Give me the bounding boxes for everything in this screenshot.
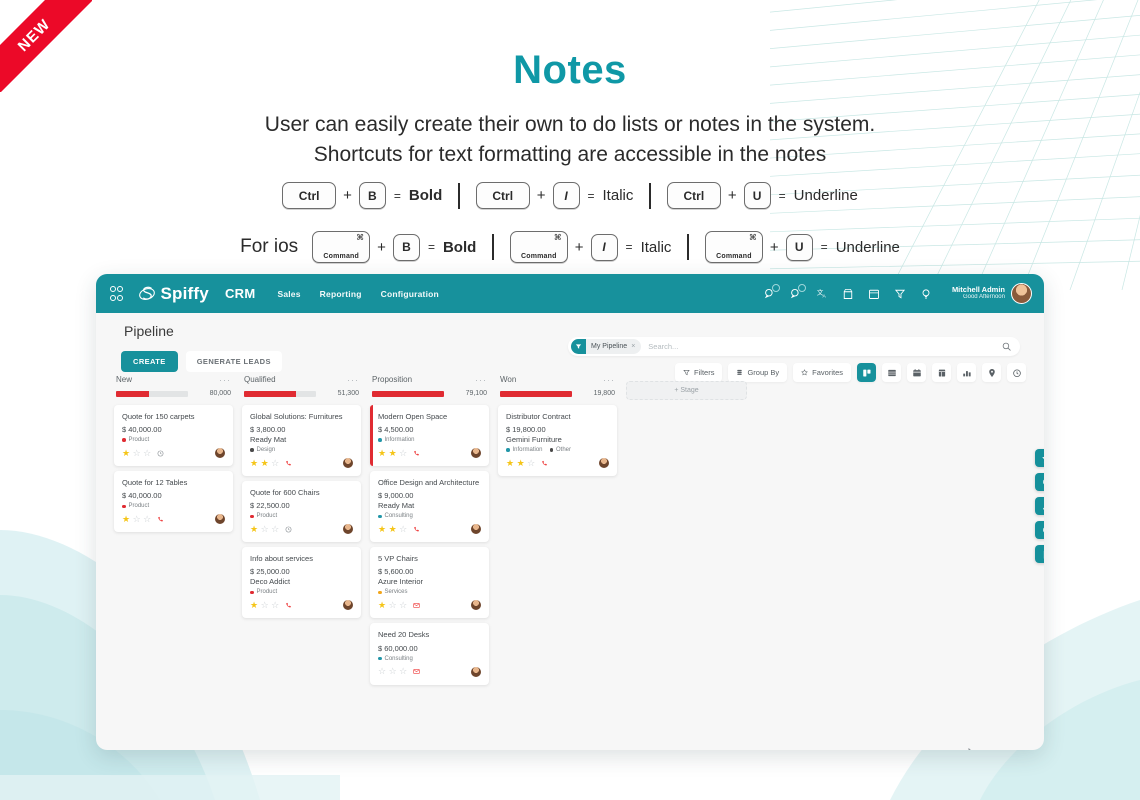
plus-sign: + xyxy=(575,239,584,256)
menu-item-configuration[interactable]: Configuration xyxy=(381,289,439,299)
card-title: 5 VP Chairs xyxy=(378,554,481,564)
card-price: $ 60,000.00 xyxy=(378,644,481,653)
new-ribbon: NEW xyxy=(0,0,92,92)
user-name: Mitchell Admin xyxy=(952,285,1005,294)
shortcut-italic-windows: Ctrl + I = Italic xyxy=(476,182,634,209)
card-priority-stars[interactable]: ★☆☆ xyxy=(250,525,279,534)
topbar-menu: Sales Reporting Configuration xyxy=(277,289,438,299)
card-title: Info about services xyxy=(250,554,353,564)
shop-icon[interactable] xyxy=(842,287,855,300)
card-partner: Deco Addict xyxy=(250,577,353,586)
column-cards: Quote for 150 carpets $ 40,000.00 Produc… xyxy=(114,405,233,532)
card-priority-stars[interactable]: ★☆☆ xyxy=(122,515,151,524)
card-tags: Product xyxy=(250,513,353,519)
equals-sign: = xyxy=(394,189,401,203)
search-icon[interactable] xyxy=(1002,338,1011,356)
breadcrumb-pipeline: Pipeline xyxy=(124,323,174,339)
card-footer: ★★☆ xyxy=(378,448,481,458)
equals-sign: = xyxy=(626,240,633,254)
page-subtitle: User can easily create their own to do l… xyxy=(0,110,1140,170)
kanban-card[interactable]: Office Design and Architecture $ 9,000.0… xyxy=(370,471,489,542)
kanban-card[interactable]: Distributor Contract $ 19,800.00 Gemini … xyxy=(498,405,617,476)
add-stage-column: + Stage xyxy=(626,375,747,750)
command-glyph-icon: ⌘ xyxy=(554,233,562,242)
key-u: U xyxy=(744,182,771,209)
card-priority-stars[interactable]: ★☆☆ xyxy=(250,601,279,610)
card-footer: ★☆☆ xyxy=(122,448,225,458)
card-footer: ★★☆ xyxy=(506,458,609,468)
shortcut-bold-ios: ⌘ Command + B = Bold xyxy=(312,231,476,263)
equals-sign: = xyxy=(428,240,435,254)
card-footer: ☆☆☆ xyxy=(378,667,481,677)
card-tags: Product xyxy=(122,437,225,443)
column-cards: Modern Open Space $ 4,500.00 Information… xyxy=(370,405,489,685)
action-buttons: CREATE GENERATE LEADS xyxy=(121,351,282,372)
discuss-icon[interactable] xyxy=(790,287,803,300)
key-i: I xyxy=(591,234,618,261)
kanban-column-qualified: Qualified ··· 51,300 Global Solutions: F… xyxy=(242,375,361,750)
card-price: $ 3,800.00 xyxy=(250,425,353,434)
kanban-card[interactable]: Quote for 12 Tables $ 40,000.00 Product … xyxy=(114,471,233,532)
topbar-right: 文A Mitchell Admin Good Afternoon xyxy=(764,283,1032,304)
star-icon[interactable] xyxy=(1035,449,1044,467)
plus-sign: + xyxy=(343,187,352,204)
column-progress-row: 80,000 xyxy=(114,390,233,397)
bulb-icon[interactable] xyxy=(920,287,933,300)
clock-icon[interactable] xyxy=(285,526,292,533)
key-b: B xyxy=(359,182,386,209)
card-tag: Product xyxy=(250,589,277,595)
card-title: Global Solutions: Furnitures xyxy=(250,412,353,422)
column-title: Won xyxy=(500,375,516,384)
column-header: Qualified ··· xyxy=(242,375,361,384)
user-menu[interactable]: Mitchell Admin Good Afternoon xyxy=(952,283,1032,304)
card-footer: ★☆☆ xyxy=(378,600,481,610)
card-tag: Information xyxy=(506,447,543,453)
shortcut-divider xyxy=(492,234,494,260)
result-underline: Underline xyxy=(794,187,858,204)
avatar[interactable] xyxy=(471,448,481,458)
avatar[interactable] xyxy=(343,458,353,468)
kanban-card[interactable]: Info about services $ 25,000.00 Deco Add… xyxy=(242,547,361,618)
kanban-column-new: New ··· 80,000 Quote for 150 carpets $ 4… xyxy=(114,375,233,750)
result-bold: Bold xyxy=(443,239,476,256)
result-underline: Underline xyxy=(836,239,900,256)
card-tag: Services xyxy=(378,589,408,595)
card-price: $ 4,500.00 xyxy=(378,425,481,434)
kanban-card[interactable]: Need 20 Desks $ 60,000.00 Consulting ☆☆☆ xyxy=(370,623,489,684)
column-header: New ··· xyxy=(114,375,233,384)
expand-icon[interactable] xyxy=(1035,497,1044,515)
column-amount: 79,100 xyxy=(466,390,487,397)
menu-item-sales[interactable]: Sales xyxy=(277,289,300,299)
key-u: U xyxy=(786,234,813,261)
facet-label: My Pipeline xyxy=(591,343,627,350)
card-partner: Azure Interior xyxy=(378,577,481,586)
card-price: $ 25,000.00 xyxy=(250,567,353,576)
card-tag: Other xyxy=(550,447,572,453)
kanban-column-proposition: Proposition ··· 79,100 Modern Open Space… xyxy=(370,375,489,750)
plus-sign: + xyxy=(537,187,546,204)
card-priority-stars[interactable]: ★☆☆ xyxy=(122,449,151,458)
column-progress-row: 79,100 xyxy=(370,390,489,397)
bookmark-icon[interactable] xyxy=(1035,545,1044,563)
avatar[interactable] xyxy=(471,600,481,610)
card-priority-stars[interactable]: ★★☆ xyxy=(506,459,535,468)
column-header: Won ··· xyxy=(498,375,617,384)
plus-sign: + xyxy=(728,187,737,204)
key-ctrl: Ctrl xyxy=(282,182,336,209)
card-price: $ 22,500.00 xyxy=(250,501,353,510)
kanban-board: New ··· 80,000 Quote for 150 carpets $ 4… xyxy=(96,375,1044,750)
phone-icon[interactable] xyxy=(285,602,292,609)
column-progress-row: 51,300 xyxy=(242,390,361,397)
column-title: New xyxy=(116,375,132,384)
card-tag: Consulting xyxy=(378,513,413,519)
card-footer: ★★☆ xyxy=(250,458,353,468)
card-tags: Consulting xyxy=(378,513,481,519)
command-glyph-icon: ⌘ xyxy=(749,233,757,242)
column-header: Proposition ··· xyxy=(370,375,489,384)
card-priority-stars[interactable]: ☆☆☆ xyxy=(378,667,407,676)
progress-bar xyxy=(116,391,188,397)
card-priority-stars[interactable]: ★★☆ xyxy=(250,459,279,468)
card-price: $ 19,800.00 xyxy=(506,425,609,434)
shortcut-divider xyxy=(458,183,460,209)
key-ctrl: Ctrl xyxy=(667,182,721,209)
kanban-card[interactable]: Modern Open Space $ 4,500.00 Information… xyxy=(370,405,489,466)
translate-icon[interactable]: 文A xyxy=(816,287,829,300)
card-priority-stars[interactable]: ★★☆ xyxy=(378,525,407,534)
equals-sign: = xyxy=(821,240,828,254)
shortcuts-windows-row: Ctrl + B = Bold Ctrl + I = Italic Ctrl +… xyxy=(0,182,1140,209)
key-i: I xyxy=(553,182,580,209)
column-title: Qualified xyxy=(244,375,276,384)
card-tag: Product xyxy=(250,513,277,519)
avatar[interactable] xyxy=(215,448,225,458)
mail-icon[interactable] xyxy=(413,668,420,675)
avatar[interactable] xyxy=(599,458,609,468)
avatar[interactable] xyxy=(471,667,481,677)
add-stage-button[interactable]: + Stage xyxy=(626,381,747,400)
card-tags: Product xyxy=(122,503,225,509)
search-input[interactable]: Search... xyxy=(648,342,1002,351)
progress-bar xyxy=(244,391,316,397)
kanban-card[interactable]: 5 VP Chairs $ 5,600.00 Azure Interior Se… xyxy=(370,547,489,618)
card-tag: Consulting xyxy=(378,656,413,662)
column-menu-icon[interactable]: ··· xyxy=(347,377,359,383)
equals-sign: = xyxy=(588,189,595,203)
result-italic: Italic xyxy=(603,187,634,204)
column-cards: Global Solutions: Furnitures $ 3,800.00 … xyxy=(242,405,361,618)
zoom-icon[interactable] xyxy=(1035,521,1044,539)
app-name: CRM xyxy=(225,286,256,301)
kanban-card[interactable]: Quote for 600 Chairs $ 22,500.00 Product… xyxy=(242,481,361,542)
card-footer: ★☆☆ xyxy=(250,524,353,534)
result-bold: Bold xyxy=(409,187,442,204)
subtitle-line-2: Shortcuts for text formatting are access… xyxy=(0,140,1140,170)
column-menu-icon[interactable]: ··· xyxy=(219,377,231,383)
equals-sign: = xyxy=(779,189,786,203)
card-tags: Information xyxy=(378,437,481,443)
card-tags: Design xyxy=(250,447,353,453)
card-partner: Ready Mat xyxy=(250,435,353,444)
app-topbar: Spiffy CRM Sales Reporting Configuration… xyxy=(96,274,1044,313)
command-glyph-icon: ⌘ xyxy=(356,233,364,242)
app-window: Spiffy CRM Sales Reporting Configuration… xyxy=(96,274,1044,750)
card-footer: ★★☆ xyxy=(378,524,481,534)
card-tags: Information Other xyxy=(506,447,609,453)
user-greeting: Good Afternoon xyxy=(952,294,1005,302)
column-amount: 80,000 xyxy=(210,390,231,397)
column-menu-icon[interactable]: ··· xyxy=(475,377,487,383)
kanban-card[interactable]: Global Solutions: Furnitures $ 3,800.00 … xyxy=(242,405,361,476)
avatar[interactable] xyxy=(343,524,353,534)
shortcut-divider xyxy=(687,234,689,260)
messages-icon[interactable] xyxy=(764,287,777,300)
plus-sign: + xyxy=(770,239,779,256)
key-command: ⌘ Command xyxy=(705,231,763,263)
activity-icon[interactable] xyxy=(894,287,907,300)
calendar-icon[interactable] xyxy=(868,287,881,300)
card-title: Office Design and Architecture xyxy=(378,478,481,488)
phone-icon[interactable] xyxy=(413,526,420,533)
card-price: $ 40,000.00 xyxy=(122,425,225,434)
kanban-card[interactable]: Quote for 150 carpets $ 40,000.00 Produc… xyxy=(114,405,233,466)
card-footer: ★☆☆ xyxy=(250,600,353,610)
card-title: Need 20 Desks xyxy=(378,630,481,640)
avatar[interactable] xyxy=(215,514,225,524)
phone-icon[interactable] xyxy=(285,460,292,467)
key-command: ⌘ Command xyxy=(510,231,568,263)
user-name-block: Mitchell Admin Good Afternoon xyxy=(952,285,1005,302)
card-price: $ 5,600.00 xyxy=(378,567,481,576)
card-title: Distributor Contract xyxy=(506,412,609,422)
avatar[interactable] xyxy=(1011,283,1032,304)
new-ribbon-label: NEW xyxy=(14,15,53,54)
column-title: Proposition xyxy=(372,375,412,384)
card-priority-stars[interactable]: ★★☆ xyxy=(378,449,407,458)
key-command: ⌘ Command xyxy=(312,231,370,263)
card-title: Quote for 600 Chairs xyxy=(250,488,353,498)
ios-label: For ios xyxy=(240,236,298,258)
progress-bar xyxy=(372,391,444,397)
control-panel: Pipeline CREATE GENERATE LEADS My Pipeli… xyxy=(96,313,1044,375)
card-priority-stars[interactable]: ★☆☆ xyxy=(378,601,407,610)
key-ctrl: Ctrl xyxy=(476,182,530,209)
column-progress-row: 19,800 xyxy=(498,390,617,397)
brand-logo[interactable]: Spiffy xyxy=(137,284,209,304)
search-bar[interactable]: My Pipeline × Search... xyxy=(568,337,1020,356)
shortcuts-ios-row: For ios ⌘ Command + B = Bold ⌘ Command +… xyxy=(0,231,1140,263)
card-title: Quote for 150 carpets xyxy=(122,412,225,422)
kanban-column-won: Won ··· 19,800 Distributor Contract $ 19… xyxy=(498,375,617,750)
svg-text:A: A xyxy=(822,294,826,300)
phone-icon[interactable] xyxy=(541,460,548,467)
avatar[interactable] xyxy=(471,524,481,534)
phone-icon[interactable] xyxy=(157,516,164,523)
column-menu-icon[interactable]: ··· xyxy=(603,377,615,383)
apps-menu-icon[interactable] xyxy=(110,286,121,301)
phone-icon[interactable] xyxy=(413,450,420,457)
card-price: $ 9,000.00 xyxy=(378,491,481,500)
card-tag: Product xyxy=(122,437,149,443)
spiffy-logo-icon xyxy=(137,284,157,304)
card-tags: Services xyxy=(378,589,481,595)
key-b: B xyxy=(393,234,420,261)
search-icon[interactable] xyxy=(1035,473,1044,491)
filter-icon xyxy=(571,339,586,354)
card-tag: Information xyxy=(378,437,415,443)
card-partner: Gemini Furniture xyxy=(506,435,609,444)
card-tags: Product xyxy=(250,589,353,595)
shortcut-underline-windows: Ctrl + U = Underline xyxy=(667,182,858,209)
progress-bar xyxy=(500,391,572,397)
column-amount: 51,300 xyxy=(338,390,359,397)
plus-sign: + xyxy=(377,239,386,256)
subtitle-line-1: User can easily create their own to do l… xyxy=(0,110,1140,140)
column-amount: 19,800 xyxy=(594,390,615,397)
card-partner: Ready Mat xyxy=(378,501,481,510)
shortcut-underline-ios: ⌘ Command + U = Underline xyxy=(705,231,900,263)
card-tag: Design xyxy=(250,447,275,453)
card-footer: ★☆☆ xyxy=(122,514,225,524)
shortcut-bold-windows: Ctrl + B = Bold xyxy=(282,182,442,209)
mail-icon[interactable] xyxy=(413,602,420,609)
clock-icon[interactable] xyxy=(157,450,164,457)
shortcut-italic-ios: ⌘ Command + I = Italic xyxy=(510,231,672,263)
card-tag: Product xyxy=(122,503,149,509)
result-italic: Italic xyxy=(641,239,672,256)
facet-remove-icon[interactable]: × xyxy=(631,343,635,350)
generate-leads-button[interactable]: GENERATE LEADS xyxy=(186,351,282,372)
page-title: Notes xyxy=(0,48,1140,93)
avatar[interactable] xyxy=(343,600,353,610)
card-title: Modern Open Space xyxy=(378,412,481,422)
card-title: Quote for 12 Tables xyxy=(122,478,225,488)
floating-action-buttons xyxy=(1035,449,1044,563)
card-price: $ 40,000.00 xyxy=(122,491,225,500)
brand-name: Spiffy xyxy=(161,284,209,304)
create-button[interactable]: CREATE xyxy=(121,351,178,372)
column-cards: Distributor Contract $ 19,800.00 Gemini … xyxy=(498,405,617,476)
menu-item-reporting[interactable]: Reporting xyxy=(320,289,362,299)
mouse-cursor xyxy=(968,748,978,750)
shortcut-divider xyxy=(649,183,651,209)
card-tags: Consulting xyxy=(378,656,481,662)
search-facet-my-pipeline[interactable]: My Pipeline × xyxy=(571,339,641,354)
